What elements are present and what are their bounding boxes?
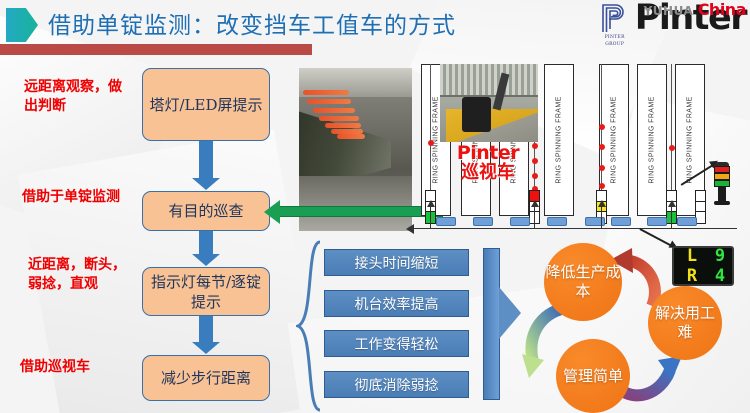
outcome-reduce-cost[interactable]: 降低生产成本 bbox=[544, 243, 622, 321]
page-title: 借助单锭监测：改变挡车工值车的方式 bbox=[48, 6, 456, 40]
flow-arrow-down-icon bbox=[199, 316, 213, 343]
machine-head-chip bbox=[547, 217, 567, 226]
left-brace-icon bbox=[296, 240, 322, 412]
rsf-column-label: RING SPINNING FRAME bbox=[611, 96, 618, 183]
rsf-column-label: RING SPINNING FRAME bbox=[649, 96, 656, 183]
aisle-line bbox=[430, 64, 431, 192]
logo-sub-wordmark: YUHUA China bbox=[644, 2, 746, 20]
walk-route-baseline bbox=[413, 228, 737, 229]
ring-spinning-frame-column: RING SPINNING FRAME bbox=[544, 64, 574, 216]
machine-head-chip bbox=[436, 217, 456, 226]
benefit-item[interactable]: 彻底消除弱捻 bbox=[324, 371, 469, 398]
logo-yuhua-text: YUHUA bbox=[644, 4, 694, 18]
broken-end-dot bbox=[599, 144, 605, 150]
ring-spinning-frame-column: RING SPINNING FRAME bbox=[637, 64, 667, 216]
patrol-cart-photo bbox=[440, 64, 538, 142]
led-counter-display: LR 94 bbox=[672, 246, 734, 286]
route-tick bbox=[430, 206, 431, 228]
benefit-item[interactable]: 工作变得轻松 bbox=[324, 330, 469, 357]
side-note-observation: 远距离观察，做出判断 bbox=[24, 78, 129, 116]
logo-china-text: China bbox=[698, 0, 746, 19]
broken-end-dot bbox=[599, 124, 605, 130]
flow-arrow-down-icon bbox=[199, 231, 213, 255]
pinter-p-logo-icon: PINTER GROUP bbox=[599, 2, 631, 49]
side-note-single-spindle: 借助于单锭监测 bbox=[22, 188, 127, 207]
blue-arrow-right-icon bbox=[483, 248, 500, 400]
logo-group-text: PINTER GROUP bbox=[599, 35, 631, 49]
title-underline-rule bbox=[0, 44, 312, 55]
route-tick bbox=[601, 206, 602, 228]
flow-step-reduce-walking[interactable]: 减少步行距离 bbox=[142, 355, 270, 401]
slide-header: 借助单锭监测：改变挡车工值车的方式 PINTER GROUP Pinter bbox=[0, 0, 750, 62]
benefit-item[interactable]: 接头时间缩短 bbox=[324, 249, 469, 276]
machine-head-chip bbox=[473, 217, 493, 226]
aisle-line bbox=[671, 64, 672, 192]
outcome-labor-shortage[interactable]: 解决用工难 bbox=[648, 286, 722, 360]
machine-head-chip bbox=[611, 217, 631, 226]
broken-end-dot bbox=[599, 183, 605, 189]
flow-step-tower-led[interactable]: 塔灯/LED屏提示 bbox=[142, 68, 270, 141]
tower-lamp-icon bbox=[714, 162, 730, 205]
patrol-brand-label: Pinter bbox=[438, 143, 538, 163]
logo-wordmark: Pinter YUHUA China bbox=[635, 2, 746, 34]
route-tick bbox=[671, 206, 672, 228]
patrol-cart-label: 巡视车 bbox=[438, 163, 538, 183]
machine-head-chip bbox=[510, 217, 530, 226]
broken-end-dot bbox=[428, 140, 434, 146]
side-note-close-range: 近距离，断头，弱捻，直观 bbox=[28, 256, 133, 294]
benefit-item[interactable]: 机台效率提高 bbox=[324, 290, 469, 317]
side-note-patrol-cart: 借助巡视车 bbox=[20, 358, 145, 377]
flow-step-indicator-lamp[interactable]: 指示灯每节/逐锭提示 bbox=[142, 267, 270, 316]
machine-head-chip bbox=[677, 217, 697, 226]
route-tick bbox=[534, 206, 535, 228]
slide-canvas: 借助单锭监测：改变挡车工值车的方式 PINTER GROUP Pinter bbox=[0, 0, 750, 413]
pinter-yuhua-logo: PINTER GROUP Pinter YUHUA China bbox=[599, 2, 746, 50]
broken-end-dot bbox=[669, 145, 675, 151]
machine-head-chip bbox=[647, 217, 667, 226]
chevron-right-icon bbox=[6, 8, 38, 42]
patrol-cart-caption: Pinter 巡视车 bbox=[438, 143, 538, 183]
outcome-simple-management[interactable]: 管理简单 bbox=[556, 339, 630, 413]
rsf-column-label: RING SPINNING FRAME bbox=[687, 96, 694, 183]
broken-end-dot bbox=[599, 165, 605, 171]
rsf-column-label: RING SPINNING FRAME bbox=[556, 96, 563, 183]
flow-step-targeted-inspection[interactable]: 有目的巡查 bbox=[142, 191, 270, 231]
led-side-label: LR bbox=[678, 249, 700, 283]
led-value: 94 bbox=[700, 249, 728, 283]
flow-arrow-down-icon bbox=[199, 141, 213, 179]
